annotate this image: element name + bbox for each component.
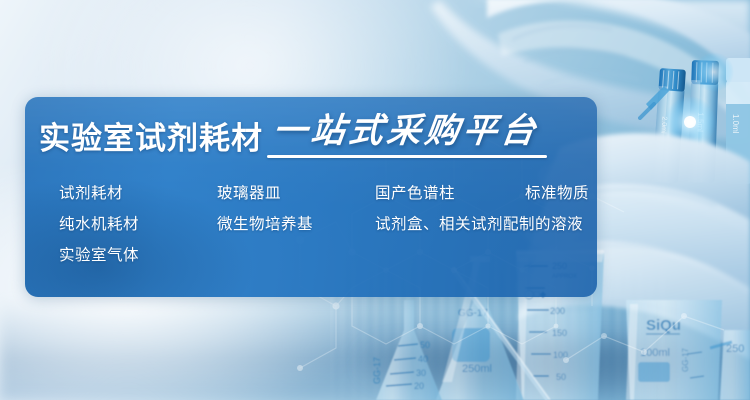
headline-underline <box>267 155 547 158</box>
category-item[interactable]: 微生物培养基 <box>217 214 313 236</box>
category-item[interactable]: 试剂耗材 <box>59 183 123 205</box>
category-row: 试剂耗材 玻璃器皿 国产色谱柱 标准物质 <box>35 183 591 214</box>
headline-script-wrap: 一站式采购平台 <box>273 114 539 154</box>
headline-script-text: 一站式采购平台 <box>271 114 541 148</box>
category-item[interactable]: 标准物质 <box>525 183 589 205</box>
category-item[interactable]: 玻璃器皿 <box>217 183 281 205</box>
category-item[interactable]: 试剂盒、相关试剂配制的溶液 <box>375 214 583 236</box>
category-item[interactable]: 实验室气体 <box>59 245 139 267</box>
headline: 实验室试剂耗材 一站式采购平台 <box>39 114 539 154</box>
category-row: 实验室气体 <box>35 245 591 276</box>
category-row: 纯水机耗材 微生物培养基 试剂盒、相关试剂配制的溶液 <box>35 214 591 245</box>
category-item[interactable]: 纯水机耗材 <box>59 214 139 236</box>
lab-reagent-banner: 2.0ml 1.5ml <box>0 0 750 400</box>
category-item[interactable]: 国产色谱柱 <box>375 183 455 205</box>
promo-panel: 实验室试剂耗材 一站式采购平台 试剂耗材 玻璃器皿 国产色谱柱 标准物质 纯水机… <box>25 97 597 297</box>
category-grid: 试剂耗材 玻璃器皿 国产色谱柱 标准物质 纯水机耗材 微生物培养基 试剂盒、相关… <box>35 183 591 276</box>
headline-main-text: 实验室试剂耗材 <box>39 123 263 154</box>
